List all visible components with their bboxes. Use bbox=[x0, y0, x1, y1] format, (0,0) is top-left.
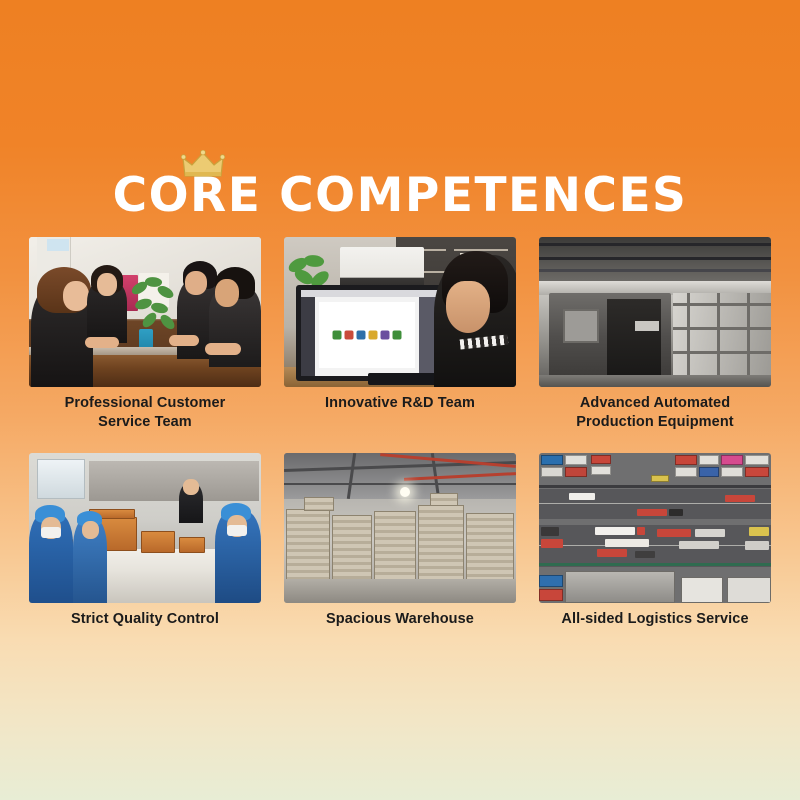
competences-row-1: Professional Customer Service Team bbox=[29, 237, 771, 434]
caption-line: Spacious Warehouse bbox=[326, 610, 474, 629]
card-caption: Innovative R&D Team bbox=[284, 394, 516, 434]
quality-inspection-photo bbox=[29, 453, 261, 603]
warehouse-pallets-photo bbox=[284, 453, 516, 603]
caption-line: Strict Quality Control bbox=[71, 610, 219, 629]
caption-line: Advanced Automated bbox=[576, 394, 733, 413]
card-caption: All-sided Logistics Service bbox=[539, 610, 771, 650]
card-strict-quality-control[interactable]: Strict Quality Control bbox=[29, 453, 261, 650]
card-caption: Spacious Warehouse bbox=[284, 610, 516, 650]
crown-icon bbox=[181, 150, 225, 180]
card-innovative-rd-team[interactable]: Innovative R&D Team bbox=[284, 237, 516, 434]
card-all-sided-logistics-service[interactable]: All-sided Logistics Service bbox=[539, 453, 771, 650]
card-caption: Strict Quality Control bbox=[29, 610, 261, 650]
competences-row-2: Strict Quality Control bbox=[29, 453, 771, 650]
page-header: CORE COMPETENCES bbox=[0, 150, 800, 226]
card-caption: Advanced Automated Production Equipment bbox=[539, 394, 771, 434]
caption-line: Production Equipment bbox=[576, 413, 733, 432]
competences-grid: Professional Customer Service Team bbox=[29, 237, 771, 650]
designer-at-computer-photo bbox=[284, 237, 516, 387]
caption-line: Innovative R&D Team bbox=[325, 394, 475, 413]
caption-line: All-sided Logistics Service bbox=[561, 610, 748, 629]
caption-line: Professional Customer bbox=[65, 394, 226, 413]
meeting-room-photo bbox=[29, 237, 261, 387]
aerial-logistics-port-photo bbox=[539, 453, 771, 603]
caption-line: Service Team bbox=[65, 413, 226, 432]
printing-machine-photo bbox=[539, 237, 771, 387]
card-caption: Professional Customer Service Team bbox=[29, 394, 261, 434]
card-professional-customer-service-team[interactable]: Professional Customer Service Team bbox=[29, 237, 261, 434]
card-spacious-warehouse[interactable]: Spacious Warehouse bbox=[284, 453, 516, 650]
card-advanced-automated-production-equipment[interactable]: Advanced Automated Production Equipment bbox=[539, 237, 771, 434]
